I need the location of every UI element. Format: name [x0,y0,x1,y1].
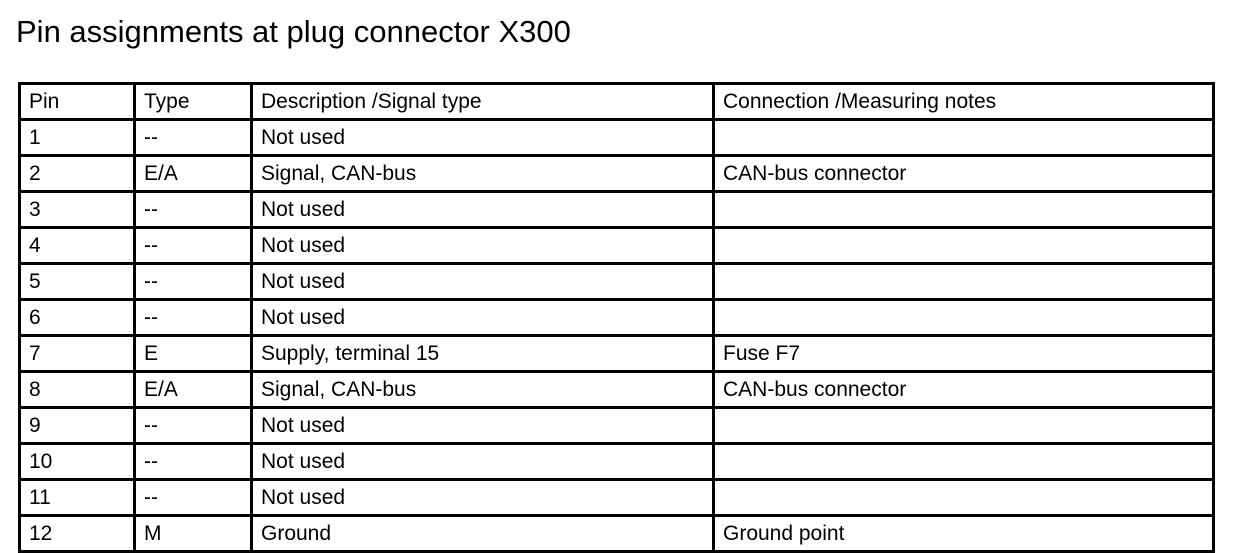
table-row: 1--Not used [20,120,1214,156]
table-row: 9--Not used [20,408,1214,444]
cell-description: Not used [252,480,714,516]
cell-description: Not used [252,228,714,264]
cell-type: -- [135,444,252,480]
cell-pin: 9 [20,408,135,444]
table-header: Pin Type Description /Signal type Connec… [20,84,1214,120]
cell-pin: 5 [20,264,135,300]
cell-connection [714,408,1214,444]
cell-pin: 3 [20,192,135,228]
cell-connection: CAN-bus connector [714,156,1214,192]
cell-description: Not used [252,408,714,444]
cell-connection: CAN-bus connector [714,372,1214,408]
cell-connection: Fuse F7 [714,336,1214,372]
cell-type: -- [135,228,252,264]
cell-type: -- [135,408,252,444]
column-header-connection: Connection /Measuring notes [714,84,1214,120]
cell-pin: 12 [20,516,135,552]
table-header-row: Pin Type Description /Signal type Connec… [20,84,1214,120]
table-row: 7ESupply, terminal 15Fuse F7 [20,336,1214,372]
table-row: 6--Not used [20,300,1214,336]
cell-pin: 10 [20,444,135,480]
table-row: 12MGroundGround point [20,516,1214,552]
cell-type: E/A [135,156,252,192]
cell-description: Not used [252,264,714,300]
table-row: 10--Not used [20,444,1214,480]
table-row: 8E/ASignal, CAN-busCAN-bus connector [20,372,1214,408]
cell-pin: 2 [20,156,135,192]
table-row: 11--Not used [20,480,1214,516]
cell-pin: 7 [20,336,135,372]
cell-description: Not used [252,192,714,228]
cell-pin: 11 [20,480,135,516]
page-title: Pin assignments at plug connector X300 [16,12,571,52]
cell-type: E [135,336,252,372]
cell-description: Ground [252,516,714,552]
cell-connection [714,300,1214,336]
cell-description: Not used [252,300,714,336]
cell-connection [714,480,1214,516]
cell-type: -- [135,300,252,336]
pin-assignment-table: Pin Type Description /Signal type Connec… [18,82,1215,553]
cell-description: Supply, terminal 15 [252,336,714,372]
column-header-pin: Pin [20,84,135,120]
table-row: 5--Not used [20,264,1214,300]
cell-description: Signal, CAN-bus [252,156,714,192]
cell-connection [714,192,1214,228]
cell-connection [714,264,1214,300]
cell-connection: Ground point [714,516,1214,552]
cell-pin: 1 [20,120,135,156]
cell-type: E/A [135,372,252,408]
cell-description: Not used [252,444,714,480]
cell-description: Not used [252,120,714,156]
cell-type: M [135,516,252,552]
cell-connection [714,444,1214,480]
page-root: Pin assignments at plug connector X300 P… [0,0,1248,540]
cell-pin: 8 [20,372,135,408]
cell-type: -- [135,192,252,228]
column-header-type: Type [135,84,252,120]
table-row: 3--Not used [20,192,1214,228]
column-header-description: Description /Signal type [252,84,714,120]
cell-connection [714,120,1214,156]
table-row: 4--Not used [20,228,1214,264]
pin-assignment-table-container: Pin Type Description /Signal type Connec… [18,82,1212,553]
cell-type: -- [135,480,252,516]
table-row: 2E/ASignal, CAN-busCAN-bus connector [20,156,1214,192]
cell-pin: 4 [20,228,135,264]
cell-pin: 6 [20,300,135,336]
table-body: 1--Not used2E/ASignal, CAN-busCAN-bus co… [20,120,1214,552]
cell-type: -- [135,120,252,156]
cell-description: Signal, CAN-bus [252,372,714,408]
cell-connection [714,228,1214,264]
cell-type: -- [135,264,252,300]
